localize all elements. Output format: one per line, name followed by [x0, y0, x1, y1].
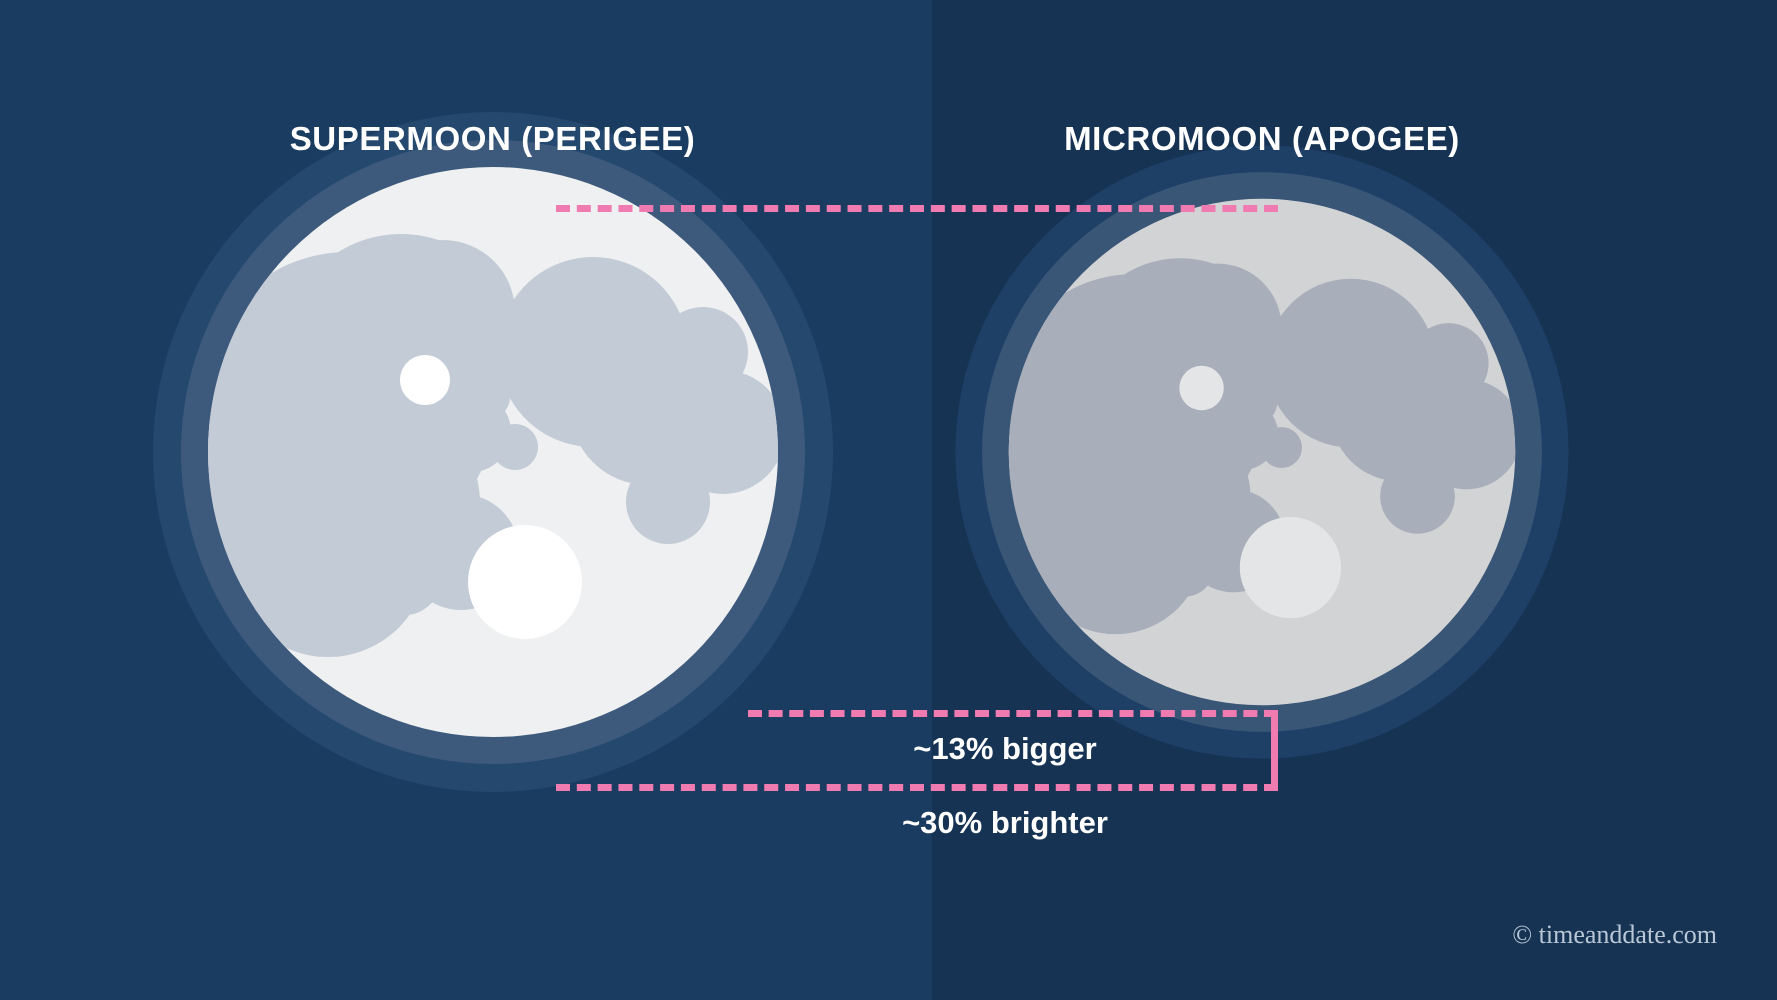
size-difference-bracket [1271, 710, 1278, 788]
supermoon-title: SUPERMOON (PERIGEE) [0, 120, 985, 158]
supermoon-bright-crater-large [468, 525, 582, 639]
supermoon-bottom-guide-line [556, 784, 1278, 791]
brightness-difference-label: ~30% brighter [760, 805, 1250, 841]
copyright-credit: © timeanddate.com [1512, 920, 1717, 950]
micromoon-bright-crater-large [1240, 517, 1341, 618]
micromoon-bright-crater-small [1179, 366, 1223, 410]
micromoon-bottom-guide-line [748, 710, 1278, 717]
micromoon-title: MICROMOON (APOGEE) [932, 120, 1592, 158]
supermoon-bright-crater-small [400, 355, 450, 405]
size-difference-label: ~13% bigger [760, 731, 1250, 767]
infographic-canvas: SUPERMOON (PERIGEE) [0, 0, 1777, 1000]
top-alignment-guide-line [556, 205, 1278, 212]
micromoon-disc [951, 141, 1573, 763]
